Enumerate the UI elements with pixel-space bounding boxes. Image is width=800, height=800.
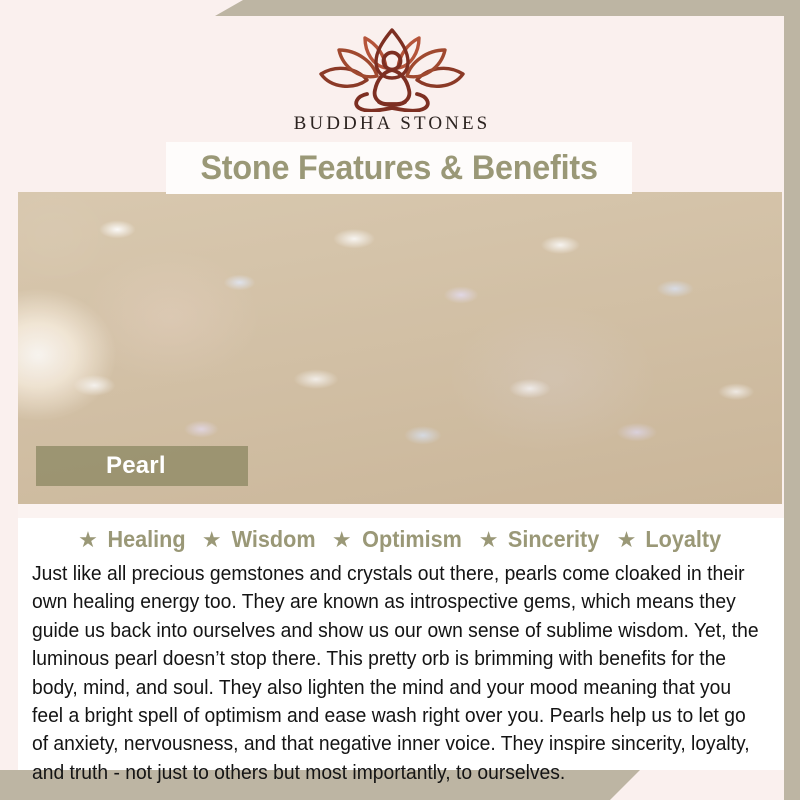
title-banner: Stone Features & Benefits bbox=[166, 142, 632, 194]
star-icon: ★ bbox=[202, 529, 222, 551]
benefit-label: Sincerity bbox=[508, 526, 599, 553]
star-icon: ★ bbox=[479, 529, 499, 551]
lotus-meditation-icon bbox=[307, 24, 477, 112]
benefit-label: Optimism bbox=[362, 526, 462, 553]
benefit-item: ★ Sincerity bbox=[479, 526, 603, 553]
benefits-list: ★ Healing ★ Wisdom ★ Optimism ★ Sincerit… bbox=[32, 526, 770, 553]
content-top-fade bbox=[18, 504, 784, 518]
star-icon: ★ bbox=[332, 529, 352, 551]
benefit-label: Loyalty bbox=[646, 526, 722, 553]
hero-photo: Pearl bbox=[18, 192, 782, 504]
benefit-item: ★ Wisdom bbox=[202, 526, 318, 553]
frame-right-band bbox=[784, 0, 800, 800]
star-icon: ★ bbox=[617, 529, 637, 551]
page-surface: BUDDHA STONES Pearl Stone Features & Ben… bbox=[0, 16, 784, 770]
benefit-item: ★ Optimism bbox=[332, 526, 465, 553]
brand-header: BUDDHA STONES bbox=[0, 16, 784, 142]
content-panel: ★ Healing ★ Wisdom ★ Optimism ★ Sincerit… bbox=[18, 504, 784, 770]
page-title: Stone Features & Benefits bbox=[200, 149, 597, 188]
star-icon: ★ bbox=[78, 529, 98, 551]
benefit-item: ★ Loyalty bbox=[617, 526, 724, 553]
frame-top-right-band bbox=[215, 0, 800, 16]
benefit-item: ★ Healing bbox=[78, 526, 188, 553]
stone-name-chip: Pearl bbox=[36, 446, 248, 486]
brand-name: BUDDHA STONES bbox=[294, 113, 491, 135]
description-text: Just like all precious gemstones and cry… bbox=[32, 560, 765, 787]
stone-name-label: Pearl bbox=[106, 452, 166, 480]
benefit-label: Wisdom bbox=[231, 526, 315, 553]
benefit-label: Healing bbox=[107, 526, 185, 553]
